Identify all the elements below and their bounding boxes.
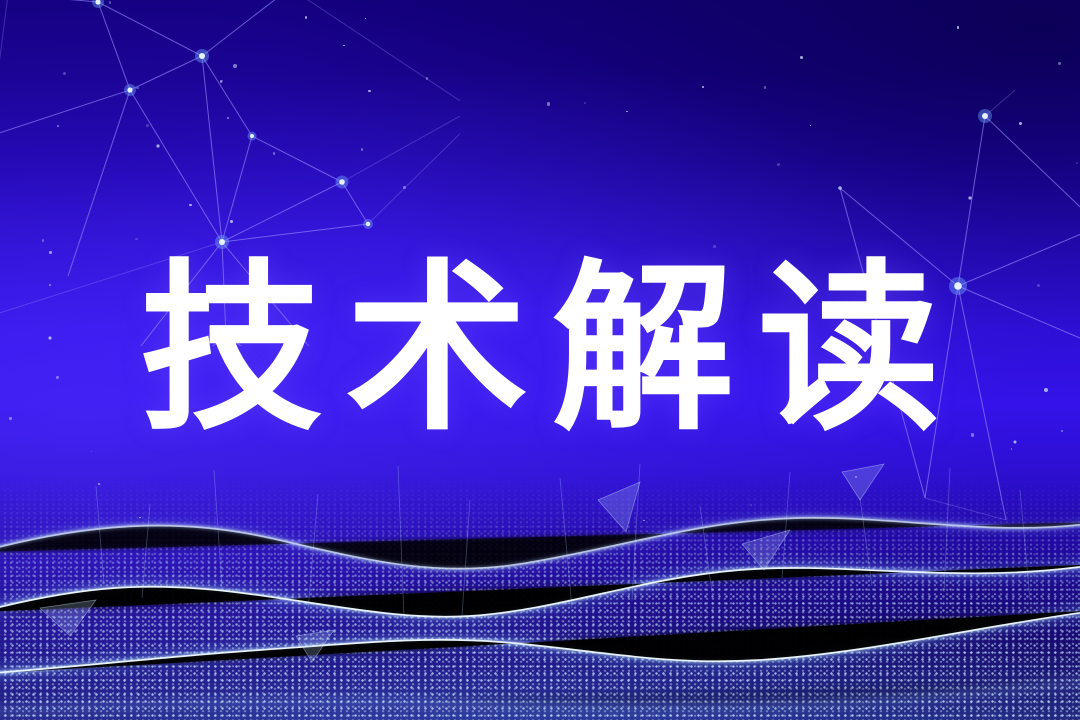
title-container: 技术解读	[0, 244, 1080, 454]
technology-banner: 技术解读	[0, 0, 1080, 720]
wave-filaments	[0, 460, 1080, 720]
banner-title: 技术解读	[116, 258, 964, 440]
particle-wave	[0, 460, 1080, 720]
